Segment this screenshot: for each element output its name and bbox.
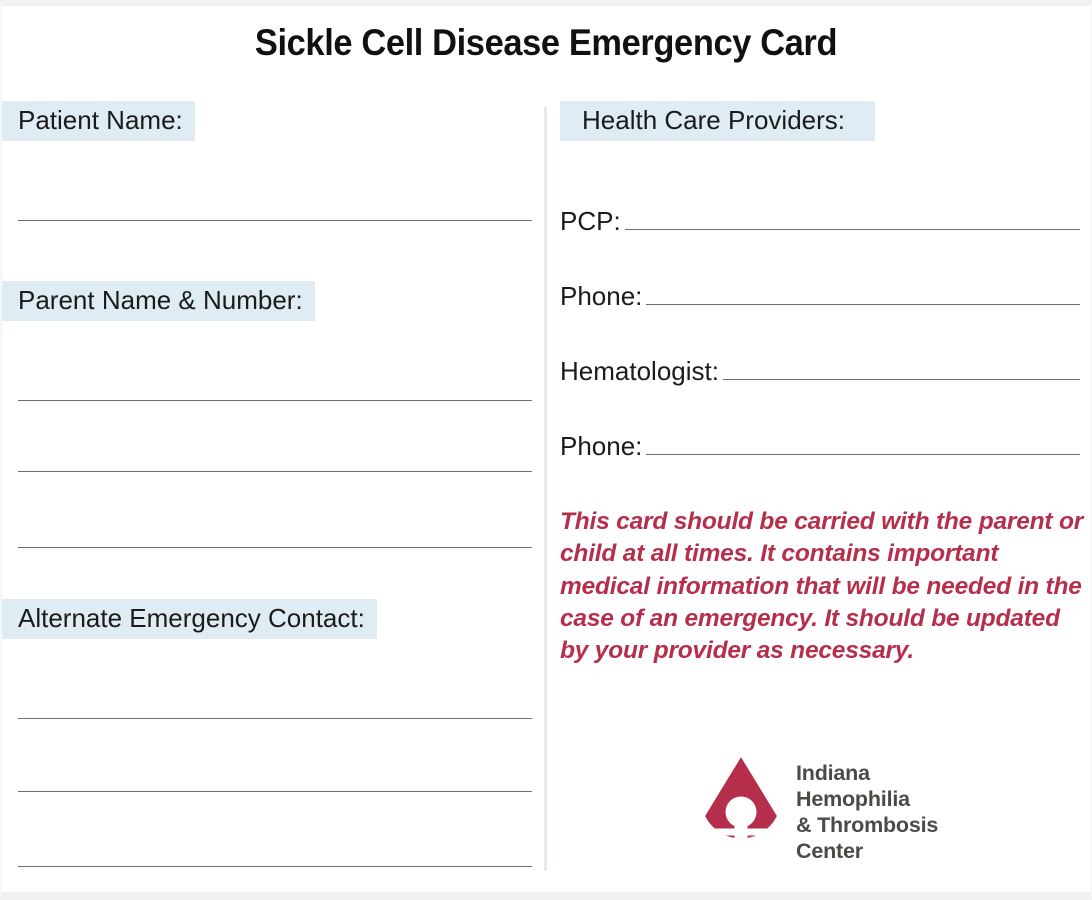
section-label-patient-name: Patient Name: <box>2 101 195 141</box>
hematologist-input-line[interactable] <box>723 361 1080 380</box>
section-label-health-care-providers: Health Care Providers: <box>560 101 875 141</box>
warning-text: This card should be carried with the par… <box>560 506 1084 668</box>
alternate-contact-write-line[interactable] <box>18 718 532 719</box>
emergency-card: Sickle Cell Disease Emergency Card Patie… <box>0 0 1092 900</box>
alternate-contact-write-line[interactable] <box>18 791 532 792</box>
section-label-parent-name-number: Parent Name & Number: <box>2 281 315 321</box>
field-row-pcp: PCP: <box>560 206 1080 237</box>
logo-line-3: & Thrombosis <box>796 812 938 838</box>
logo-line-4: Center <box>796 838 938 864</box>
pcp-input-line[interactable] <box>625 211 1080 230</box>
field-label-pcp: PCP: <box>560 206 621 237</box>
page-title: Sickle Cell Disease Emergency Card <box>40 22 1052 64</box>
column-divider <box>544 106 547 871</box>
field-row-hematologist-phone: Phone: <box>560 431 1080 462</box>
blood-drop-figure-icon <box>699 756 783 868</box>
left-column: Patient Name: Parent Name & Number: Alte… <box>2 101 540 891</box>
patient-name-write-line[interactable] <box>18 220 532 221</box>
field-label-hematologist: Hematologist: <box>560 356 719 387</box>
logo-wordmark: Indiana Hemophilia & Thrombosis Center <box>796 760 938 864</box>
pcp-phone-input-line[interactable] <box>646 286 1080 305</box>
field-label-hematologist-phone: Phone: <box>560 431 642 462</box>
logo-line-2: Hemophilia <box>796 786 938 812</box>
section-label-alternate-emergency-contact: Alternate Emergency Contact: <box>2 599 377 639</box>
hematologist-phone-input-line[interactable] <box>646 436 1080 455</box>
logo-line-1: Indiana <box>796 760 938 786</box>
field-row-pcp-phone: Phone: <box>560 281 1080 312</box>
alternate-contact-write-line[interactable] <box>18 866 532 867</box>
field-row-hematologist: Hematologist: <box>560 356 1080 387</box>
parent-name-write-line[interactable] <box>18 400 532 401</box>
organization-logo: Indiana Hemophilia & Thrombosis Center <box>699 756 938 868</box>
parent-name-write-line[interactable] <box>18 547 532 548</box>
field-label-pcp-phone: Phone: <box>560 281 642 312</box>
right-column: Health Care Providers: PCP: Phone: Hemat… <box>548 101 1090 891</box>
parent-name-write-line[interactable] <box>18 471 532 472</box>
